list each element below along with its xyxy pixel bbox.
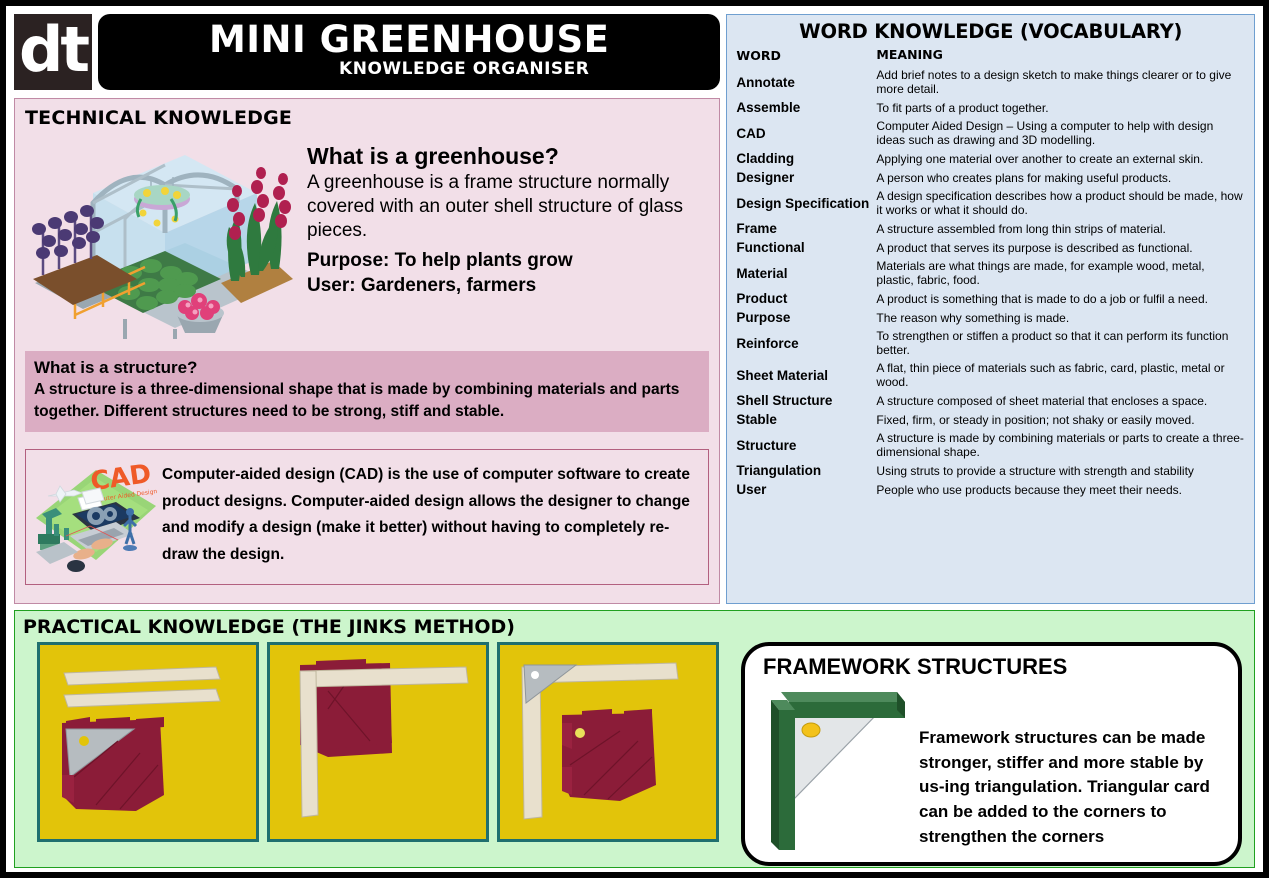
- table-row: CladdingApplying one material over anoth…: [736, 149, 1245, 168]
- word-knowledge-panel: WORD KNOWLEDGE (VOCABULARY) WORD MEANING…: [726, 14, 1255, 604]
- table-row: Sheet MaterialA flat, thin piece of mate…: [736, 359, 1245, 391]
- greenhouse-purpose: Purpose: To help plants grow: [307, 249, 709, 274]
- vocabulary-header-row: WORD MEANING: [736, 46, 1245, 66]
- vocab-meaning: A product is something that is made to d…: [876, 289, 1245, 308]
- framework-structures-title: FRAMEWORK STRUCTURES: [763, 654, 1226, 680]
- jinks-step-3-photo: [497, 642, 719, 842]
- title-banner: MINI GREENHOUSE KNOWLEDGE ORGANISER: [98, 14, 720, 90]
- vocab-word: Purpose: [736, 308, 876, 327]
- structure-question: What is a structure?: [34, 358, 700, 378]
- vocab-word: Annotate: [736, 66, 876, 98]
- vocab-word: Shell Structure: [736, 391, 876, 410]
- practical-knowledge-heading: PRACTICAL KNOWLEDGE (THE JINKS METHOD): [23, 616, 1246, 638]
- vocab-meaning: A structure is made by combining materia…: [876, 429, 1245, 461]
- vocab-word: Reinforce: [736, 327, 876, 359]
- cad-illustration: CAD Computer Aided Design: [30, 456, 162, 576]
- vocab-meaning: To strengthen or stiffen a product so th…: [876, 327, 1245, 359]
- framework-structures-card: FRAMEWORK STRUCTURES: [741, 642, 1242, 866]
- greenhouse-user: User: Gardeners, farmers: [307, 274, 709, 299]
- cad-info-box: CAD Computer Aided Design: [25, 449, 709, 585]
- vocab-meaning: Fixed, firm, or steady in position; not …: [876, 410, 1245, 429]
- page-subtitle: KNOWLEDGE ORGANISER: [229, 59, 589, 79]
- vocab-meaning: The reason why something is made.: [876, 308, 1245, 327]
- table-row: AssembleTo fit parts of a product togeth…: [736, 98, 1245, 117]
- table-row: StructureA structure is made by combinin…: [736, 429, 1245, 461]
- vocab-meaning: A structure assembled from long thin str…: [876, 219, 1245, 238]
- practical-knowledge-panel: PRACTICAL KNOWLEDGE (THE JINKS METHOD): [14, 610, 1255, 868]
- right-column: WORD KNOWLEDGE (VOCABULARY) WORD MEANING…: [726, 14, 1255, 604]
- greenhouse-text-block: What is a greenhouse? A greenhouse is a …: [301, 133, 709, 345]
- table-row: CADComputer Aided Design – Using a compu…: [736, 117, 1245, 149]
- vocab-word: Frame: [736, 219, 876, 238]
- vocab-word: Product: [736, 289, 876, 308]
- vocab-meaning: A product that serves its purpose is des…: [876, 238, 1245, 257]
- vocab-meaning: Using struts to provide a structure with…: [876, 461, 1245, 480]
- table-row: AnnotateAdd brief notes to a design sket…: [736, 66, 1245, 98]
- word-knowledge-title: WORD KNOWLEDGE (VOCABULARY): [736, 20, 1245, 43]
- knowledge-organiser-page: dt MINI GREENHOUSE KNOWLEDGE ORGANISER T…: [0, 0, 1269, 878]
- jinks-photo-strip: [23, 642, 719, 866]
- practical-body: FRAMEWORK STRUCTURES: [23, 642, 1246, 866]
- table-row: StableFixed, firm, or steady in position…: [736, 410, 1245, 429]
- vocab-word: Cladding: [736, 149, 876, 168]
- vocab-word: Triangulation: [736, 461, 876, 480]
- vocab-meaning: Materials are what things are made, for …: [876, 257, 1245, 289]
- jinks-step-1-photo: [37, 642, 259, 842]
- vocab-meaning: A person who creates plans for making us…: [876, 168, 1245, 187]
- vocab-word: User: [736, 480, 876, 499]
- table-row: Shell StructureA structure composed of s…: [736, 391, 1245, 410]
- vocab-meaning: A flat, thin piece of materials such as …: [876, 359, 1245, 391]
- vocab-meaning: A design specification describes how a p…: [876, 187, 1245, 219]
- vocab-word: Design Specification: [736, 187, 876, 219]
- structure-definition-box: What is a structure? A structure is a th…: [25, 351, 709, 432]
- greenhouse-question: What is a greenhouse?: [307, 143, 709, 170]
- left-column: dt MINI GREENHOUSE KNOWLEDGE ORGANISER T…: [14, 14, 720, 604]
- vocab-word: CAD: [736, 117, 876, 149]
- technical-knowledge-heading: TECHNICAL KNOWLEDGE: [25, 107, 709, 129]
- vocab-meaning: Add brief notes to a design sketch to ma…: [876, 66, 1245, 98]
- table-row: FunctionalA product that serves its purp…: [736, 238, 1245, 257]
- vocab-word: Material: [736, 257, 876, 289]
- vocab-meaning: People who use products because they mee…: [876, 480, 1245, 499]
- dt-logo: dt: [14, 14, 92, 90]
- greenhouse-answer: A greenhouse is a frame structure normal…: [307, 171, 709, 243]
- jinks-step-2-photo: [267, 642, 489, 842]
- vocab-word: Functional: [736, 238, 876, 257]
- framework-inner: Framework structures can be made stronge…: [763, 682, 1226, 852]
- dt-logo-text: dt: [19, 22, 87, 78]
- vocab-word: Structure: [736, 429, 876, 461]
- table-row: ReinforceTo strengthen or stiffen a prod…: [736, 327, 1245, 359]
- vocab-meaning: A structure composed of sheet material t…: [876, 391, 1245, 410]
- vocab-word: Designer: [736, 168, 876, 187]
- vocab-meaning: Computer Aided Design – Using a computer…: [876, 117, 1245, 149]
- greenhouse-row: What is a greenhouse? A greenhouse is a …: [25, 133, 709, 345]
- vocab-meaning: To fit parts of a product together.: [876, 98, 1245, 117]
- framework-corner-illustration: [763, 682, 913, 852]
- page-title: MINI GREENHOUSE: [209, 21, 609, 59]
- page-header: dt MINI GREENHOUSE KNOWLEDGE ORGANISER: [14, 14, 720, 90]
- vocab-meaning: Applying one material over another to cr…: [876, 149, 1245, 168]
- table-row: PurposeThe reason why something is made.: [736, 308, 1245, 327]
- top-row: dt MINI GREENHOUSE KNOWLEDGE ORGANISER T…: [14, 14, 1255, 604]
- table-row: UserPeople who use products because they…: [736, 480, 1245, 499]
- vocabulary-table: WORD MEANING AnnotateAdd brief notes to …: [736, 46, 1245, 499]
- table-row: MaterialMaterials are what things are ma…: [736, 257, 1245, 289]
- vocab-word: Stable: [736, 410, 876, 429]
- cad-description: Computer-aided design (CAD) is the use o…: [162, 456, 698, 569]
- table-row: Design SpecificationA design specificati…: [736, 187, 1245, 219]
- greenhouse-illustration: [25, 133, 297, 339]
- vocab-word: Assemble: [736, 98, 876, 117]
- vocab-word: Sheet Material: [736, 359, 876, 391]
- table-row: FrameA structure assembled from long thi…: [736, 219, 1245, 238]
- table-row: ProductA product is something that is ma…: [736, 289, 1245, 308]
- column-header-meaning: MEANING: [876, 46, 1245, 66]
- framework-structures-text: Framework structures can be made stronge…: [919, 682, 1226, 852]
- technical-knowledge-panel: TECHNICAL KNOWLEDGE: [14, 98, 720, 604]
- table-row: TriangulationUsing struts to provide a s…: [736, 461, 1245, 480]
- structure-answer: A structure is a three-dimensional shape…: [34, 379, 700, 423]
- table-row: DesignerA person who creates plans for m…: [736, 168, 1245, 187]
- column-header-word: WORD: [736, 46, 876, 66]
